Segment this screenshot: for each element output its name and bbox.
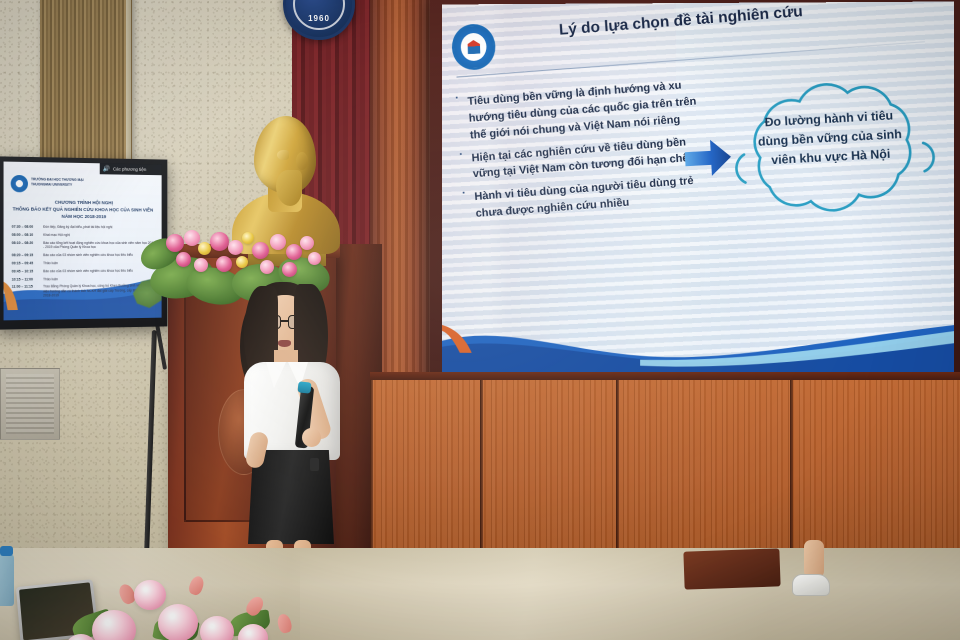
bust-head [254,116,316,194]
monitor-screen: TRƯỜNG ĐẠI HỌC THƯƠNG MẠI THUONGMAI UNIV… [4,162,162,321]
rose [216,256,232,272]
rose [260,260,274,274]
bust-nose [277,150,289,160]
rose [286,244,302,260]
rose-bud [187,574,206,596]
rose [194,258,208,272]
wall-monitor: TRƯỜNG ĐẠI HỌC THƯƠNG MẠI THUONGMAI UNIV… [0,156,167,329]
rose [270,234,286,250]
rose [134,580,166,610]
logo-inner [460,33,487,62]
presentation-clicker [310,458,319,471]
projection-screen-frame: Lý do lựa chọn đề tài nghiên cứu Tiêu dù… [430,0,960,386]
bust-ear [296,152,308,170]
rose [158,604,198,640]
rose [228,240,243,255]
rose [210,232,229,251]
emblem-year: 1960 [286,14,352,23]
rose [308,252,321,265]
panel-edge [126,0,131,160]
wall-vent-box [0,368,60,440]
rose [176,252,191,267]
presenter-mouth [278,340,291,347]
presenter-hand [302,428,321,447]
panel-seam [480,380,483,576]
wood-wainscot-wall [370,380,960,576]
rose [166,234,184,252]
foreground-roses [62,562,312,640]
panel-seam [790,380,793,576]
water-bottle [0,554,14,606]
slide-bullet-list: Tiêu dùng bền vững là định hướng và xu h… [455,76,710,230]
rose-bud [276,613,293,635]
rose [92,610,136,640]
bottle-cap [0,546,13,556]
foreground-wood-block [683,548,780,589]
cloud-callout-text: Đo lường hành vi tiêu dùng bền vững của … [748,105,912,171]
bust-beard [276,170,302,206]
microphone-head [297,381,311,393]
rose [242,232,254,244]
foreground-sneaker [792,574,830,596]
rose [200,616,234,640]
rose [198,242,211,255]
foreground-leg [804,540,824,578]
rose [184,230,200,246]
rose [236,256,248,268]
rose [252,242,269,259]
slide-wave-graphic [442,295,954,375]
logo-building-icon [467,40,480,54]
projection-screen: Lý do lựa chọn đề tài nghiên cứu Tiêu dù… [442,2,954,376]
panel-seam [370,380,373,576]
conference-photo: 1960 Lý do lựa chọn đề tài nghiên cứu [0,0,960,640]
panel-seam [616,380,619,576]
cloud-callout: Đo lường hành vi tiêu dùng bền vững của … [717,51,949,253]
rose [282,262,297,277]
fluted-wood-panel [40,0,132,164]
rose [300,236,314,250]
